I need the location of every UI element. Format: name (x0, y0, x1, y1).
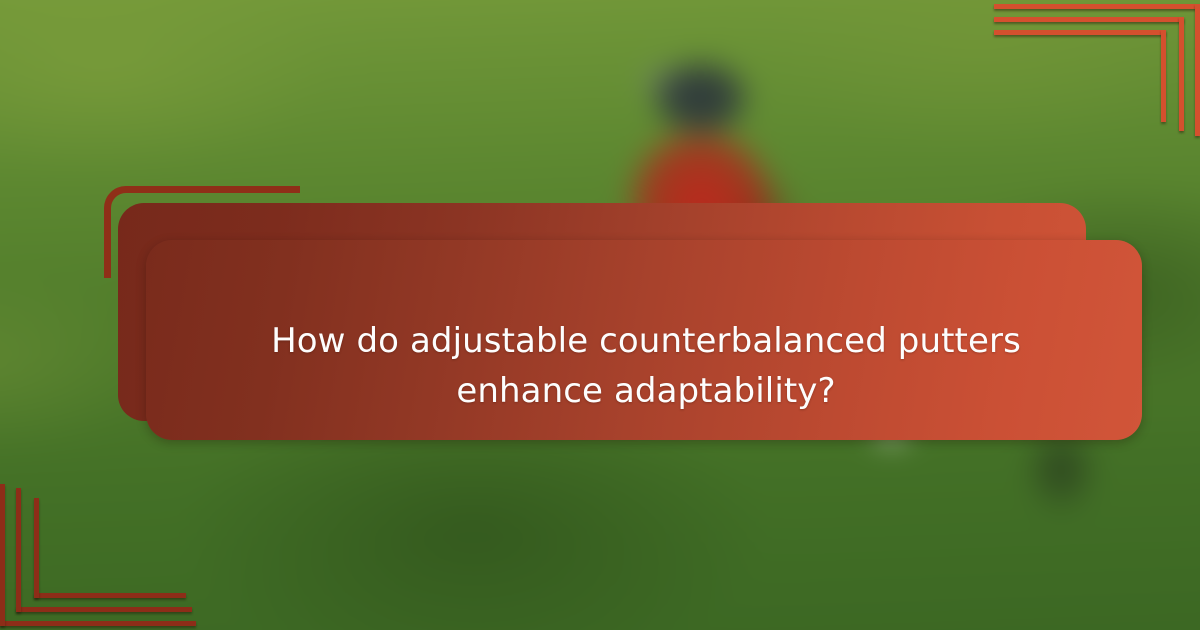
question-text: How do adjustable counterbalanced putter… (206, 316, 1086, 416)
poster-canvas: How do adjustable counterbalanced putter… (0, 0, 1200, 630)
card-front-plate: How do adjustable counterbalanced putter… (146, 240, 1142, 440)
question-card: How do adjustable counterbalanced putter… (104, 186, 1104, 442)
